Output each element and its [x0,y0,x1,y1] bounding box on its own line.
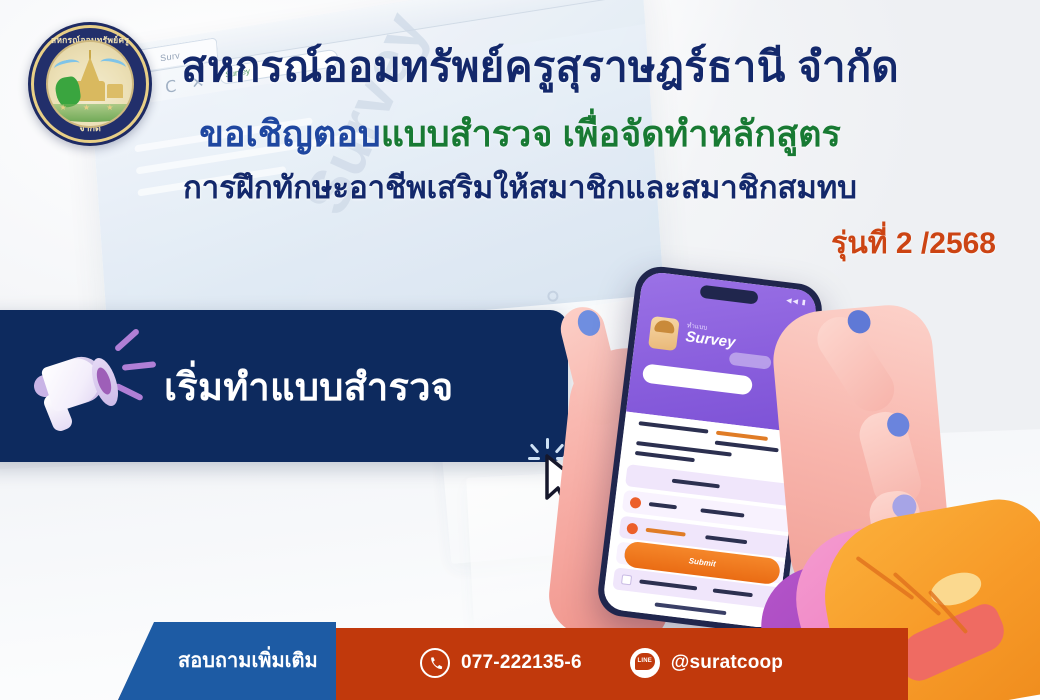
survey-app-title: Survey [685,328,737,351]
start-survey-button[interactable]: เริ่มทำแบบสำรวจ [0,310,568,462]
start-survey-label: เริ่มทำแบบสำรวจ [164,356,453,417]
contact-phone[interactable]: 077-222135-6 [420,648,582,678]
contact-line[interactable]: LINE @suratcoop [630,648,783,678]
header-pill [729,352,772,370]
batch-label: รุ่นที่ 2 /2568 [0,220,1040,267]
phone-number: 077-222135-6 [461,652,582,674]
headline-segment-green: แบบสำรวจ เพื่อจัดทำหลักสูตร [381,113,841,154]
page-title: สหกรณ์ออมทรัพย์ครูสุราษฎร์ธานี จำกัด [0,42,1040,92]
home-indicator [655,602,727,615]
line-icon: LINE [630,648,660,678]
poster-root: Surv ✕ ← → C ✕ Survey Survey สหกรณ์ออมทร… [0,0,1040,700]
line-bubble: LINE [635,653,655,670]
search-input[interactable] [642,363,753,395]
phone-icon [420,648,450,678]
footer-bar: สอบถามเพิ่มเติม 077-222135-6 LINE @surat… [0,622,1040,700]
footer-ask-label: สอบถามเพิ่มเติม [178,644,318,676]
headline-block: สหกรณ์ออมทรัพย์ครูสุราษฎร์ธานี จำกัด ขอเ… [0,0,1040,267]
footer-contacts: 077-222135-6 LINE @suratcoop [420,648,783,678]
headline-line-3: การฝึกทักษะอาชีพเสริมให้สมาชิกและสมาชิกส… [0,169,1040,206]
headline-segment-blue: ขอเชิญตอบ [199,113,381,154]
status-bar: ◀◀ ▮ [786,296,807,306]
megaphone-icon [10,331,160,441]
line-badge-label: LINE [635,653,655,670]
headline-line-2: ขอเชิญตอบแบบสำรวจ เพื่อจัดทำหลักสูตร [0,112,1040,155]
line-id: @suratcoop [671,652,783,674]
avatar [648,316,680,351]
